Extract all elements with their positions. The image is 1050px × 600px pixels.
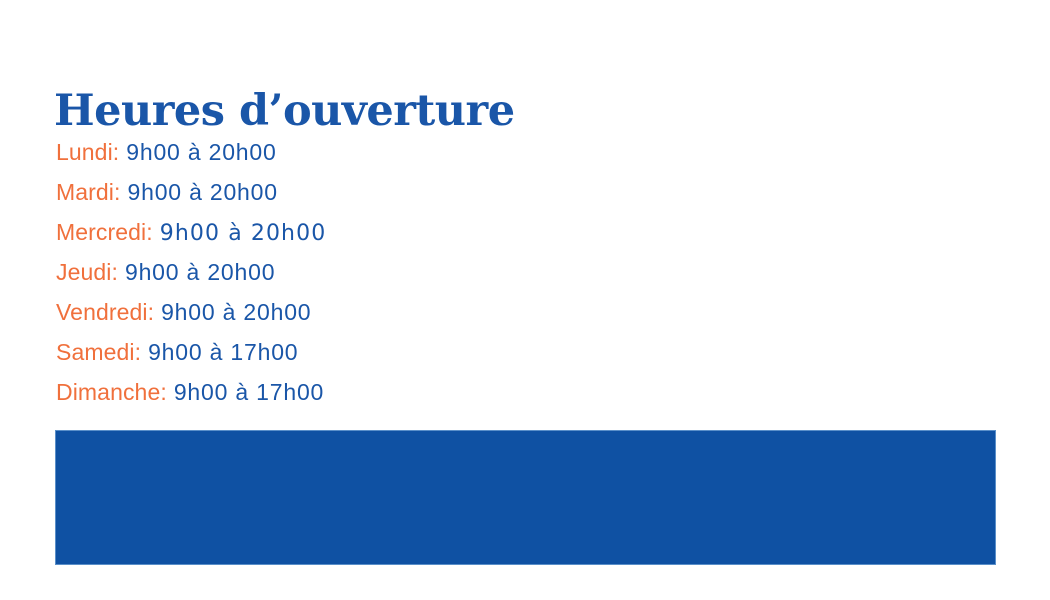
hours-value: 9h00 à 20h00 (153, 221, 327, 246)
blue-banner-placeholder (55, 430, 996, 565)
hours-value: 9h00 à 17h00 (167, 379, 324, 405)
day-label: Mardi: (56, 179, 121, 205)
list-item: Samedi: 9h00 à 17h00 (56, 332, 576, 372)
day-label: Dimanche: (56, 379, 167, 405)
list-item: Dimanche: 9h00 à 17h00 (56, 372, 576, 412)
hours-value: 9h00 à 20h00 (119, 139, 276, 165)
hours-value: 9h00 à 20h00 (121, 179, 278, 205)
day-label: Vendredi: (56, 299, 154, 325)
list-item: Jeudi: 9h00 à 20h00 (56, 252, 576, 292)
day-label: Jeudi: (56, 259, 118, 285)
day-label: Lundi: (56, 139, 119, 165)
slide-canvas: Heures d’ouverture Lundi: 9h00 à 20h00 M… (0, 0, 1050, 600)
list-item: Vendredi: 9h00 à 20h00 (56, 292, 576, 332)
list-item: Mardi: 9h00 à 20h00 (56, 172, 576, 212)
day-label: Mercredi: (56, 219, 153, 245)
page-title: Heures d’ouverture (54, 86, 515, 136)
opening-hours-list: Lundi: 9h00 à 20h00 Mardi: 9h00 à 20h00 … (56, 132, 576, 412)
hours-value: 9h00 à 17h00 (141, 339, 298, 365)
hours-value: 9h00 à 20h00 (154, 299, 311, 325)
day-label: Samedi: (56, 339, 141, 365)
hours-value: 9h00 à 20h00 (118, 259, 275, 285)
list-item: Mercredi: 9h00 à 20h00 (56, 212, 576, 252)
list-item: Lundi: 9h00 à 20h00 (56, 132, 576, 172)
